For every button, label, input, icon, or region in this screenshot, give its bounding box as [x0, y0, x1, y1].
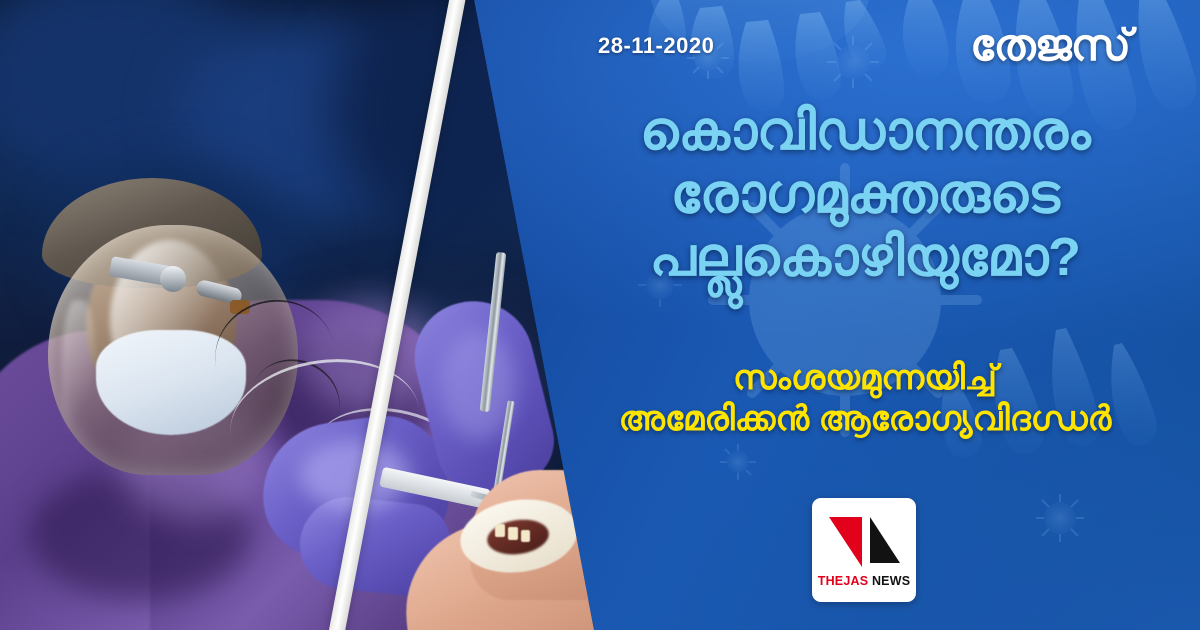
publish-date: 28-11-2020 [598, 33, 714, 59]
headline: കൊവിഡാനന്തരം രോഗമുക്തരുടെ പല്ലുകൊഴിയുമോ? [560, 100, 1170, 290]
logo-triangles-icon [826, 513, 902, 571]
subheadline-line-1: സംശയമുന്നയിച്ച് [560, 358, 1170, 399]
news-card: 28-11-2020 തേജസ് കൊവിഡാനന്തരം രോഗമുക്തരു… [0, 0, 1200, 630]
thejas-news-logo[interactable]: THEJAS NEWS [812, 498, 916, 602]
logo-shape-icon [826, 513, 902, 571]
masthead-logo-text: തേജസ് [970, 24, 1130, 68]
logo-wordmark: THEJAS NEWS [818, 574, 911, 588]
logo-text-secondary: NEWS [872, 574, 910, 588]
headline-line-2: രോഗമുക്തരുടെ [560, 163, 1170, 226]
headline-line-1: കൊവിഡാനന്തരം [560, 100, 1170, 163]
subheadline: സംശയമുന്നയിച്ച് അമേരിക്കന്‍ ആരോഗ്യവിദഗ്ധ… [560, 358, 1170, 440]
subheadline-line-2: അമേരിക്കന്‍ ആരോഗ്യവിദഗ്ധര്‍ [560, 399, 1170, 440]
headline-line-3: പല്ലുകൊഴിയുമോ? [560, 226, 1170, 289]
logo-text-primary: THEJAS [818, 574, 869, 588]
